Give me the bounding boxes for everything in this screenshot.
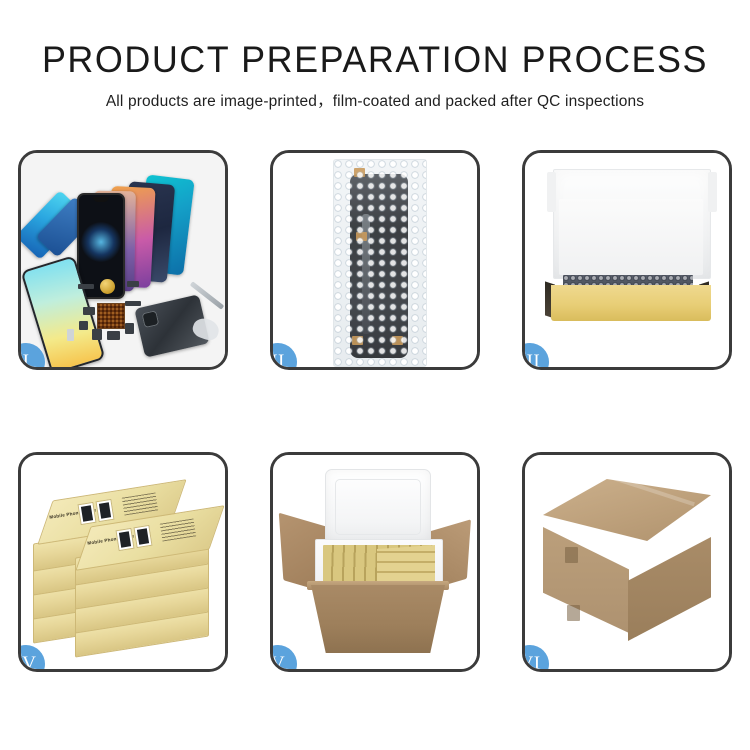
carton-body	[311, 585, 445, 653]
box-stack: Mobile Phone Spare Parts Mobile Phone Sp…	[31, 477, 221, 659]
carton-side-face	[628, 537, 711, 641]
bubble-wrapped-part-photo: II	[273, 153, 477, 367]
box-window	[115, 528, 134, 551]
part-icon	[78, 284, 94, 289]
carton-tape-icon	[565, 547, 578, 563]
foam-sheet	[559, 199, 703, 275]
page-header: PRODUCT PREPARATION PROCESS All products…	[0, 0, 750, 110]
process-step-panel-2[interactable]: II	[270, 150, 480, 370]
carton-tape-icon	[567, 605, 580, 621]
part-icon	[92, 329, 102, 340]
step-badge-5: V	[273, 645, 297, 669]
tape-icon	[392, 336, 403, 345]
stacked-retail-boxes-photo: Mobile Phone Spare Parts Mobile Phone Sp…	[21, 455, 225, 669]
box-window	[77, 502, 96, 525]
tape-icon	[352, 336, 363, 345]
step-badge-2: II	[273, 343, 297, 367]
carton-with-foam-photo: V	[273, 455, 477, 669]
step-badge-6: VI	[525, 645, 549, 669]
tape-icon	[356, 232, 367, 241]
phone-parts-photo: I	[21, 153, 225, 367]
process-step-panel-6[interactable]: VI	[522, 452, 732, 672]
part-icon	[67, 329, 74, 341]
sealed-carton-photo: VI	[525, 455, 729, 669]
bubble-wrap-bag	[333, 159, 427, 367]
carton-top-face	[543, 479, 711, 541]
process-step-panel-5[interactable]: V	[270, 452, 480, 672]
gold-component-icon	[100, 279, 115, 294]
page-title: PRODUCT PREPARATION PROCESS	[11, 0, 739, 78]
step-badge-1: I	[21, 343, 45, 367]
styrofoam-lid	[325, 469, 431, 545]
page-subtitle: All products are image-printed，film-coat…	[0, 78, 750, 110]
process-step-panel-3[interactable]: III	[522, 150, 732, 370]
process-step-panel-4[interactable]: Mobile Phone Spare Parts Mobile Phone Sp…	[18, 452, 228, 672]
part-icon	[79, 321, 88, 330]
step-badge-3: III	[525, 343, 549, 367]
part-icon	[83, 307, 95, 315]
process-step-panel-1[interactable]: I	[18, 150, 228, 370]
part-icon	[125, 301, 141, 306]
chip-array-icon	[97, 303, 125, 329]
box-front-panel	[551, 285, 711, 321]
part-icon	[127, 281, 139, 287]
open-mailer-box-photo: III	[525, 153, 729, 367]
tape-icon	[354, 168, 365, 177]
part-icon	[125, 323, 134, 334]
carton-front-face	[543, 527, 629, 633]
wrapped-phone-part	[350, 174, 408, 358]
process-step-grid: I II III	[18, 150, 732, 672]
box-window	[95, 499, 114, 522]
box-window	[133, 525, 152, 548]
part-icon	[107, 331, 120, 340]
